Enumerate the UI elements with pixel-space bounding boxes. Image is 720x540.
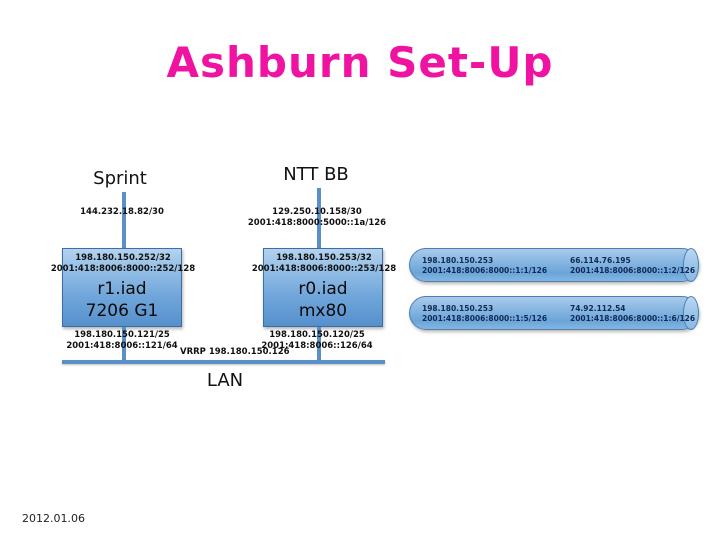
router-r1-lan-v6: 2001:418:8006::121/64 bbox=[52, 341, 192, 352]
router-r0-identity: r0.iad mx80 bbox=[264, 278, 382, 322]
uplink-sprint-ipv4: 144.232.18.82/30 bbox=[52, 207, 192, 218]
router-r0-hostname: r0.iad bbox=[264, 278, 382, 300]
router-r0-loopback-v6: 2001:418:8006:8000::253/128 bbox=[242, 264, 406, 275]
lan-address-r1: 198.180.150.121/25 2001:418:8006::121/64 bbox=[52, 330, 192, 352]
router-node-r1-iad[interactable]: 198.180.150.252/32 2001:418:8006:8000::2… bbox=[62, 248, 182, 327]
lan-label: LAN bbox=[185, 370, 265, 391]
peer-link-1-near-v6: 2001:418:8006:8000::1:1/126 bbox=[422, 266, 547, 276]
provider-label-sprint: Sprint bbox=[60, 168, 180, 189]
uplink-address-ntt: 129.250.10.158/30 2001:418:8000:5000::1a… bbox=[247, 207, 387, 229]
router-r1-loopback-addresses: 198.180.150.252/32 2001:418:8006:8000::2… bbox=[41, 253, 205, 275]
peer-link-cylinder-2[interactable]: 198.180.150.253 2001:418:8006:8000::1:5/… bbox=[409, 296, 699, 330]
peer-link-2-far-addresses: 74.92.112.54 2001:418:8006:8000::1:6/126 bbox=[570, 304, 695, 324]
page-title: Ashburn Set-Up bbox=[0, 38, 720, 87]
router-r0-model: mx80 bbox=[264, 300, 382, 322]
peer-link-2-near-v4: 198.180.150.253 bbox=[422, 304, 547, 314]
router-r0-loopback-v4: 198.180.150.253/32 bbox=[242, 253, 406, 264]
peer-link-cylinder-1[interactable]: 198.180.150.253 2001:418:8006:8000::1:1/… bbox=[409, 248, 699, 282]
vrrp-label: VRRP 198.180.150.126 bbox=[180, 347, 290, 357]
router-r1-identity: r1.iad 7206 G1 bbox=[63, 278, 181, 322]
peer-link-1-far-addresses: 66.114.76.195 2001:418:8006:8000::1:2/12… bbox=[570, 256, 695, 276]
peer-link-1-near-v4: 198.180.150.253 bbox=[422, 256, 547, 266]
uplink-line-sprint bbox=[122, 192, 126, 248]
peer-link-1-far-v6: 2001:418:8006:8000::1:2/126 bbox=[570, 266, 695, 276]
router-r1-lan-v4: 198.180.150.121/25 bbox=[52, 330, 192, 341]
peer-link-2-near-v6: 2001:418:8006:8000::1:5/126 bbox=[422, 314, 547, 324]
uplink-ntt-ipv6: 2001:418:8000:5000::1a/126 bbox=[247, 218, 387, 229]
peer-link-2-far-v6: 2001:418:8006:8000::1:6/126 bbox=[570, 314, 695, 324]
slide-canvas: Ashburn Set-Up Sprint NTT BB 144.232.18.… bbox=[0, 0, 720, 540]
router-r1-loopback-v6: 2001:418:8006:8000::252/128 bbox=[41, 264, 205, 275]
router-r0-lan-v4: 198.180.150.120/25 bbox=[247, 330, 387, 341]
router-node-r0-iad[interactable]: 198.180.150.253/32 2001:418:8006:8000::2… bbox=[263, 248, 383, 327]
router-r0-loopback-addresses: 198.180.150.253/32 2001:418:8006:8000::2… bbox=[242, 253, 406, 275]
uplink-address-sprint: 144.232.18.82/30 bbox=[52, 207, 192, 218]
peer-link-2-far-v4: 74.92.112.54 bbox=[570, 304, 695, 314]
footer-date: 2012.01.06 bbox=[22, 512, 85, 525]
uplink-ntt-ipv4: 129.250.10.158/30 bbox=[247, 207, 387, 218]
peer-link-1-near-addresses: 198.180.150.253 2001:418:8006:8000::1:1/… bbox=[422, 256, 547, 276]
router-r1-model: 7206 G1 bbox=[63, 300, 181, 322]
peer-link-2-near-addresses: 198.180.150.253 2001:418:8006:8000::1:5/… bbox=[422, 304, 547, 324]
peer-link-1-far-v4: 66.114.76.195 bbox=[570, 256, 695, 266]
router-r1-loopback-v4: 198.180.150.252/32 bbox=[41, 253, 205, 264]
provider-label-ntt: NTT BB bbox=[256, 164, 376, 185]
lan-bus-line bbox=[62, 360, 385, 364]
router-r1-hostname: r1.iad bbox=[63, 278, 181, 300]
